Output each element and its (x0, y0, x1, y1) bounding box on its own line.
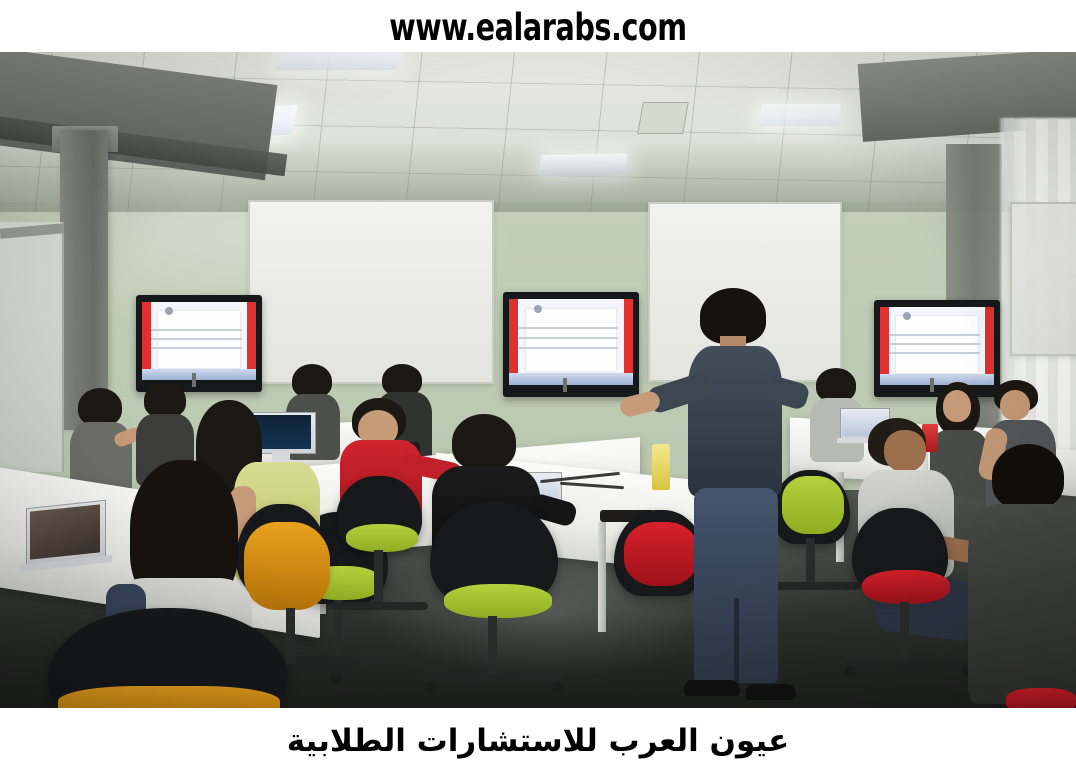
site-header: www.ealarabs.com (0, 0, 1076, 52)
chair-seat (862, 570, 950, 604)
tv-taskbar (509, 373, 633, 385)
tv-mount (192, 373, 196, 387)
chair-post (806, 538, 815, 584)
tv-screen (509, 299, 633, 385)
chair-seat (346, 524, 418, 552)
chair-seat (444, 584, 552, 618)
tv-taskbar (880, 374, 994, 385)
chair-caster (424, 682, 436, 694)
tv-logo-icon (534, 305, 542, 313)
site-footer: عيون العرب للاستشارات الطلابية (0, 708, 1076, 776)
chair-caster (330, 672, 342, 684)
wall-tv-right (874, 300, 1000, 397)
tv-taskbar (142, 369, 256, 380)
site-url-watermark: www.ealarabs.com (389, 9, 686, 46)
tv-screen (880, 307, 994, 385)
chair-post (900, 602, 909, 662)
table-leg (598, 522, 606, 632)
chair-caster (552, 682, 564, 694)
footer-arabic-caption: عيون العرب للاستشارات الطلابية (287, 723, 790, 760)
tv-screen (142, 302, 256, 380)
chair-post (488, 616, 497, 678)
ceiling-light-icon (275, 52, 404, 70)
chair-seat (1006, 688, 1076, 708)
chair-base (330, 602, 428, 610)
chair-base (844, 660, 970, 668)
tv-mount (563, 378, 567, 392)
chair-base (288, 656, 392, 664)
chair-seat (782, 476, 844, 534)
chair-post (374, 550, 383, 604)
chair-seat (58, 686, 280, 708)
watermarked-photo-page: www.ealarabs.com (0, 0, 1076, 776)
ceiling-vent-icon (637, 102, 689, 134)
chair-base (768, 582, 860, 590)
yellow-bottle-icon (652, 444, 670, 490)
chair-caster (844, 666, 856, 678)
ceiling-light-icon (758, 104, 841, 126)
wall-tv-center (503, 292, 639, 397)
chair-seat (624, 522, 698, 586)
instructor-shoe (746, 684, 796, 700)
chair-post (286, 608, 295, 666)
tv-document-content (526, 309, 615, 371)
concrete-column-left (60, 130, 108, 430)
whiteboard-right (1010, 202, 1076, 356)
chair-seat (244, 522, 330, 610)
chair-base (424, 674, 564, 682)
instructor-shoe (684, 680, 740, 696)
whiteboard-left (248, 200, 494, 384)
tv-mount (930, 378, 934, 392)
classroom-photo (0, 52, 1076, 708)
glass-door-left (0, 222, 64, 472)
wall-tv-left (136, 295, 262, 392)
